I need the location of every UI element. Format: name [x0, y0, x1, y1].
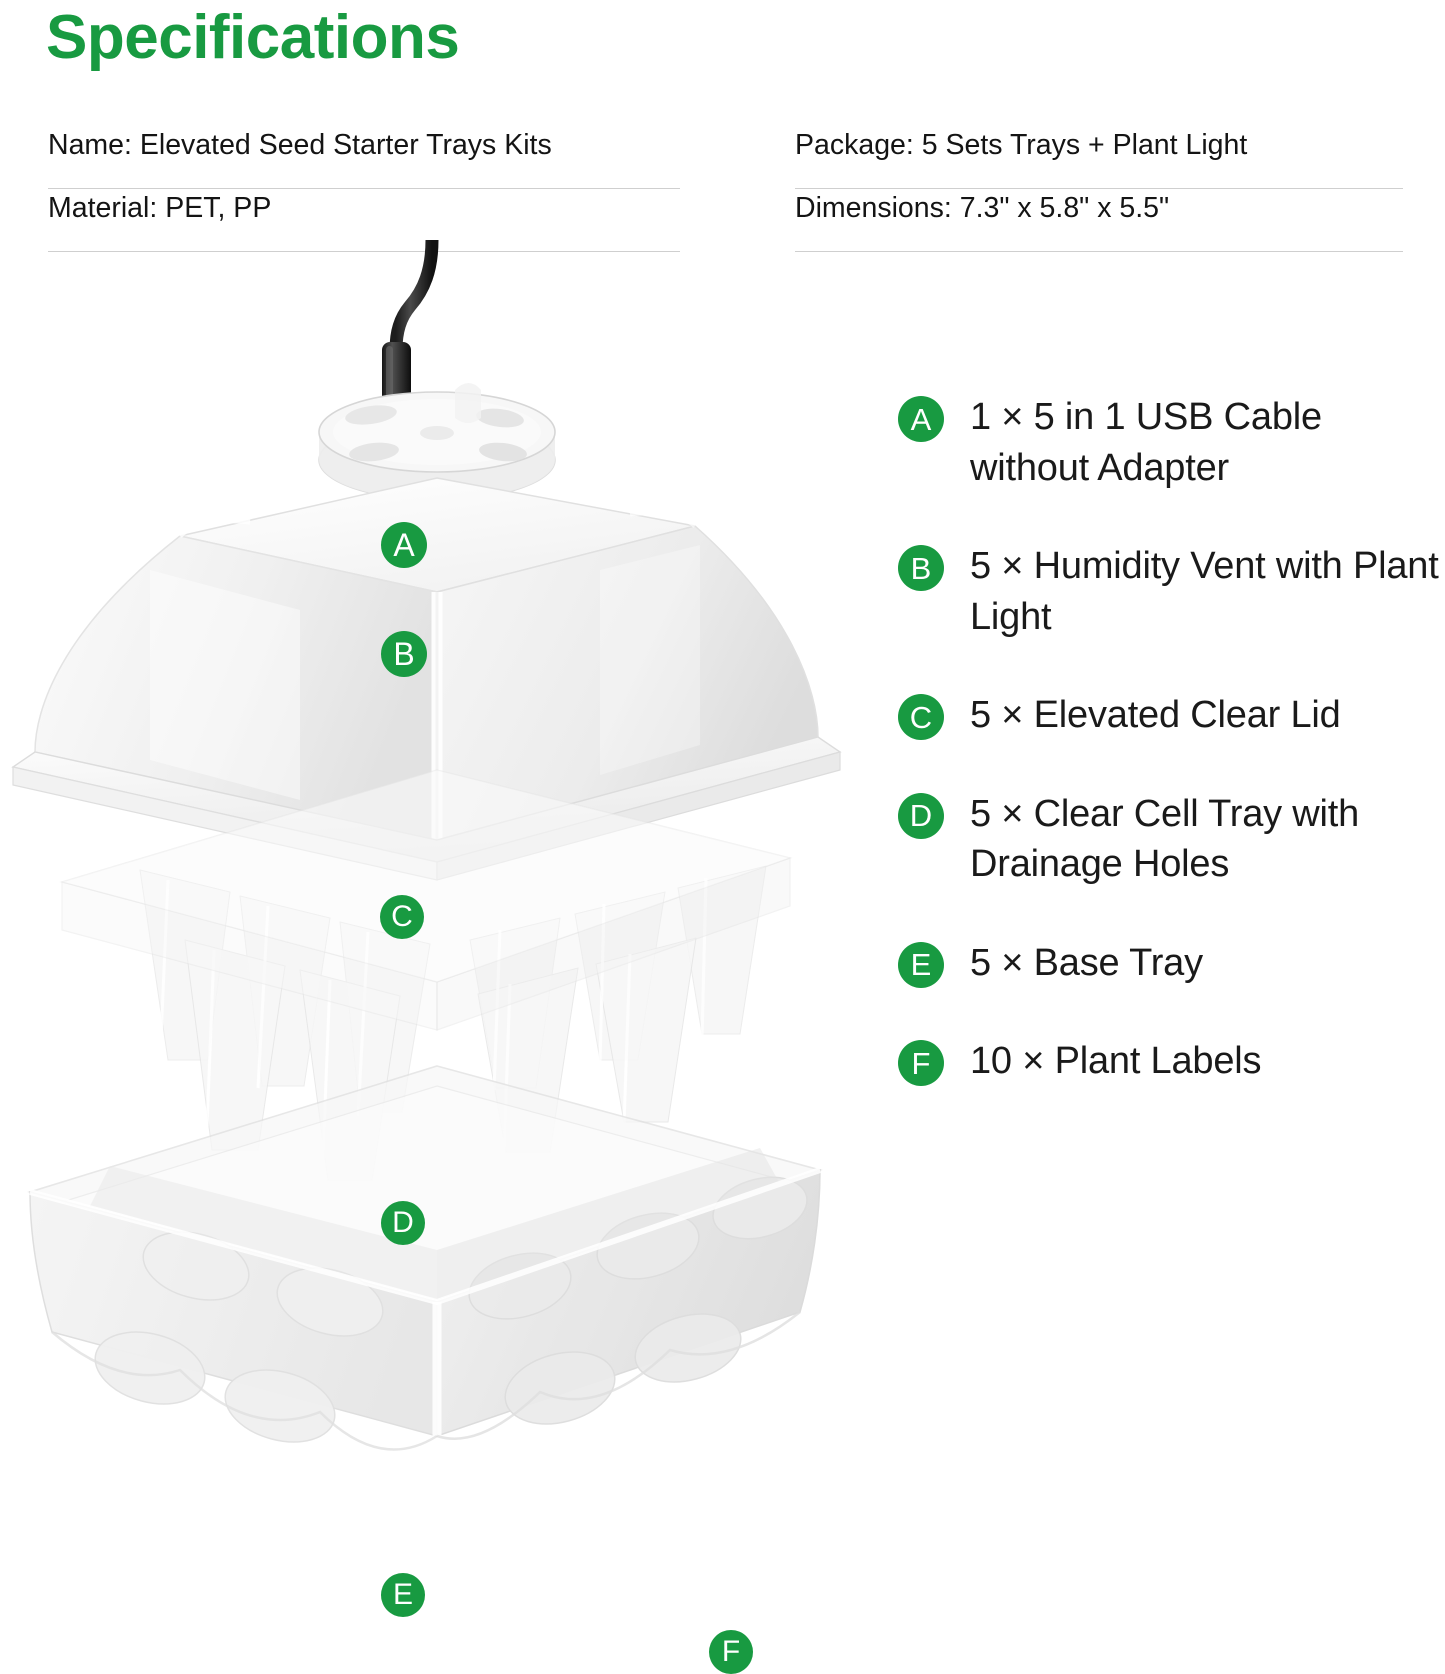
legend-item-d: D 5 × Clear Cell Tray with Drainage Hole… — [898, 789, 1445, 890]
legend-badge-a: A — [898, 396, 944, 442]
callout-badge-a: A — [381, 522, 427, 568]
legend-item-b: B 5 × Humidity Vent with Plant Light — [898, 541, 1445, 642]
callout-badge-d: D — [381, 1201, 425, 1245]
spec-column-left: Name: Elevated Seed Starter Trays Kits M… — [48, 126, 680, 252]
legend-label-d: 5 × Clear Cell Tray with Drainage Holes — [970, 789, 1445, 890]
legend-item-f: F 10 × Plant Labels — [898, 1036, 1445, 1087]
spec-column-right: Package: 5 Sets Trays + Plant Light Dime… — [795, 126, 1403, 252]
spec-row-name: Name: Elevated Seed Starter Trays Kits — [48, 126, 680, 189]
page-title: Specifications — [46, 2, 459, 73]
legend-badge-c: C — [898, 694, 944, 740]
spec-row-package: Package: 5 Sets Trays + Plant Light — [795, 126, 1403, 189]
callout-badge-e: E — [381, 1573, 425, 1617]
legend-label-c: 5 × Elevated Clear Lid — [970, 690, 1341, 741]
legend-badge-e: E — [898, 942, 944, 988]
legend-badge-d: D — [898, 793, 944, 839]
spec-dimensions-text: Dimensions: 7.3" x 5.8" x 5.5" — [795, 189, 1169, 227]
product-exploded-illustration: A B C D E F — [0, 240, 880, 1458]
legend-item-c: C 5 × Elevated Clear Lid — [898, 690, 1445, 741]
legend-badge-b: B — [898, 545, 944, 591]
callout-badge-c: C — [380, 895, 424, 939]
callout-badge-b: B — [381, 631, 427, 677]
legend-label-e: 5 × Base Tray — [970, 938, 1203, 989]
legend-label-a: 1 × 5 in 1 USB Cable without Adapter — [970, 392, 1445, 493]
legend-badge-f: F — [898, 1040, 944, 1086]
legend-label-b: 5 × Humidity Vent with Plant Light — [970, 541, 1445, 642]
base-tray-graphic — [30, 1066, 820, 1453]
legend-label-f: 10 × Plant Labels — [970, 1036, 1261, 1087]
spec-row-dimensions: Dimensions: 7.3" x 5.8" x 5.5" — [795, 189, 1403, 252]
legend-list: A 1 × 5 in 1 USB Cable without Adapter B… — [898, 392, 1445, 1135]
legend-item-e: E 5 × Base Tray — [898, 938, 1445, 989]
spec-name-text: Name: Elevated Seed Starter Trays Kits — [48, 126, 552, 164]
spec-package-text: Package: 5 Sets Trays + Plant Light — [795, 126, 1247, 164]
legend-item-a: A 1 × 5 in 1 USB Cable without Adapter — [898, 392, 1445, 493]
callout-badge-f: F — [709, 1630, 753, 1674]
spec-material-text: Material: PET, PP — [48, 189, 271, 227]
